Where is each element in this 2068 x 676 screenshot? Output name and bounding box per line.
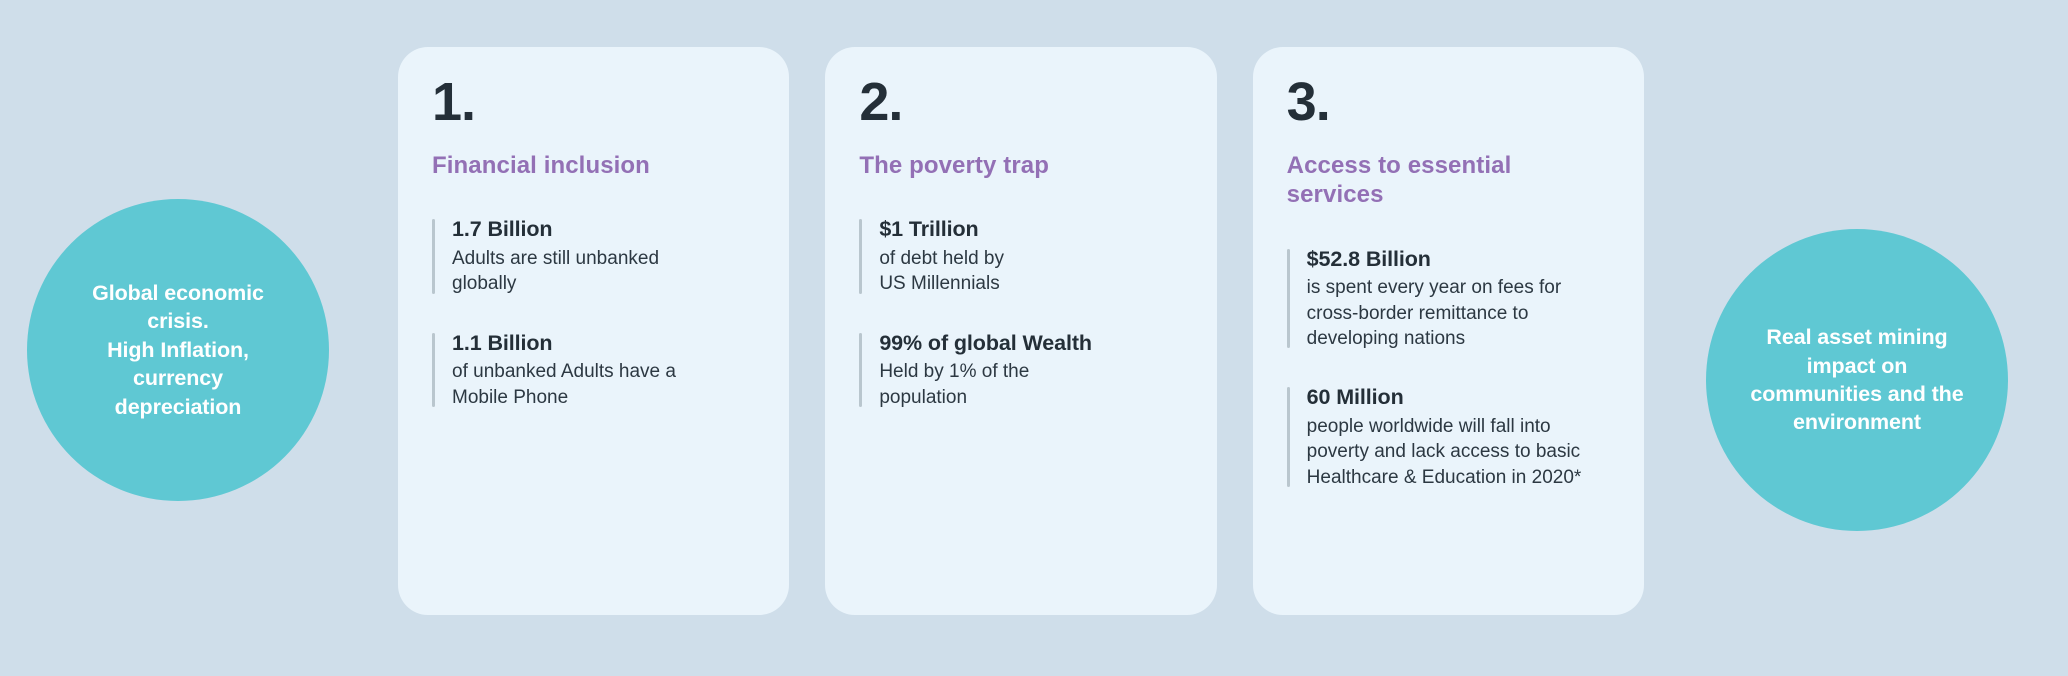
stat-description: Adults are still unbanked globally xyxy=(452,246,755,297)
stat-rule-divider xyxy=(859,333,862,407)
card-stats-list: $52.8 Billion is spent every year on fee… xyxy=(1287,246,1610,491)
stat-rule-divider xyxy=(432,219,435,293)
stat-item: 99% of global Wealth Held by 1% of the p… xyxy=(859,330,1182,410)
stat-item: 60 Million people worldwide will fall in… xyxy=(1287,384,1610,490)
left-circle-text: Global economic crisis. High Inflation, … xyxy=(92,279,264,421)
stat-item: 1.1 Billion of unbanked Adults have a Mo… xyxy=(432,330,755,410)
stat-rule-divider xyxy=(1287,387,1290,487)
card-financial-inclusion: 1. Financial inclusion 1.7 Billion Adult… xyxy=(398,47,789,615)
stat-description: of debt held by US Millennials xyxy=(879,246,1182,297)
card-title: The poverty trap xyxy=(859,151,1182,180)
card-number: 3. xyxy=(1287,75,1610,129)
stat-item: 1.7 Billion Adults are still unbanked gl… xyxy=(432,216,755,296)
stat-value: 1.1 Billion xyxy=(452,330,755,358)
stat-value: 99% of global Wealth xyxy=(879,330,1182,358)
card-title: Access to essential services xyxy=(1287,151,1610,210)
left-context-circle: Global economic crisis. High Inflation, … xyxy=(27,199,329,501)
stat-item: $52.8 Billion is spent every year on fee… xyxy=(1287,246,1610,352)
stat-value: $52.8 Billion xyxy=(1307,246,1610,274)
stat-rule-divider xyxy=(432,333,435,407)
stat-value: $1 Trillion xyxy=(879,216,1182,244)
stat-rule-divider xyxy=(859,219,862,293)
right-circle-text: Real asset mining impact on communities … xyxy=(1750,323,1963,437)
card-stats-list: $1 Trillion of debt held by US Millennia… xyxy=(859,216,1182,410)
card-number: 2. xyxy=(859,75,1182,129)
stat-value: 1.7 Billion xyxy=(452,216,755,244)
stat-description: is spent every year on fees for cross-bo… xyxy=(1307,275,1610,351)
stat-rule-divider xyxy=(1287,249,1290,349)
stat-description: people worldwide will fall into poverty … xyxy=(1307,414,1610,490)
card-access-to-essential-services: 3. Access to essential services $52.8 Bi… xyxy=(1253,47,1644,615)
card-stats-list: 1.7 Billion Adults are still unbanked gl… xyxy=(432,216,755,410)
card-number: 1. xyxy=(432,75,755,129)
stat-value: 60 Million xyxy=(1307,384,1610,412)
card-poverty-trap: 2. The poverty trap $1 Trillion of debt … xyxy=(825,47,1216,615)
card-title: Financial inclusion xyxy=(432,151,755,180)
infographic-stage: Global economic crisis. High Inflation, … xyxy=(0,0,2068,676)
stat-item: $1 Trillion of debt held by US Millennia… xyxy=(859,216,1182,296)
stat-description: Held by 1% of the population xyxy=(879,359,1182,410)
stat-description: of unbanked Adults have a Mobile Phone xyxy=(452,359,755,410)
cards-row: 1. Financial inclusion 1.7 Billion Adult… xyxy=(398,47,1644,615)
right-context-circle: Real asset mining impact on communities … xyxy=(1706,229,2008,531)
